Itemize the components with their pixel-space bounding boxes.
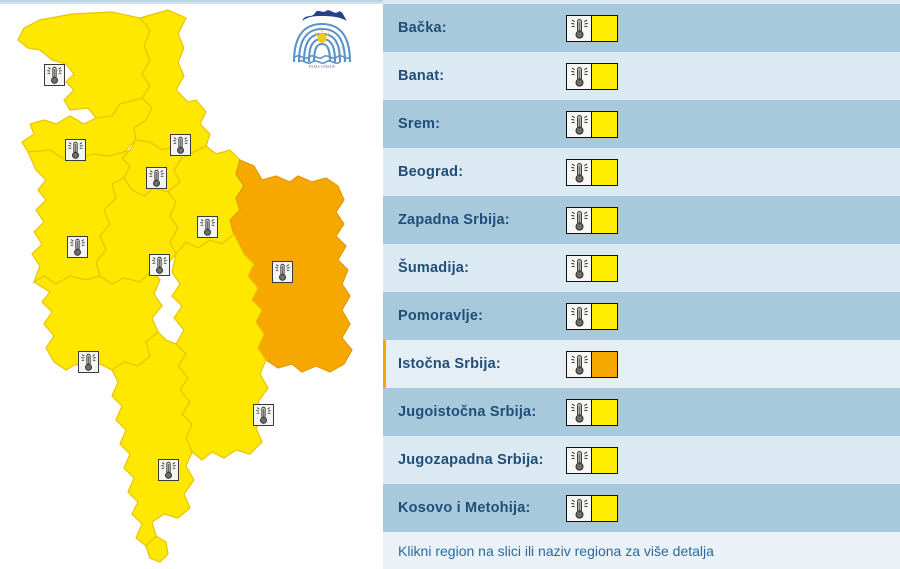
map-thermometer-icon[interactable] [170, 134, 191, 156]
thermometer-icon [566, 159, 591, 186]
region-row[interactable]: Banat: [383, 52, 900, 100]
map-thermometer-icon[interactable] [197, 216, 218, 238]
warning-level-swatch [591, 495, 618, 522]
region-row[interactable]: Srem: [383, 100, 900, 148]
footer-hint-row: Klikni region na slici ili naziv regiona… [383, 532, 900, 569]
thermometer-icon [566, 399, 591, 426]
region-name-link[interactable]: Banat: [398, 68, 558, 84]
region-name-link[interactable]: Jugozapadna Srbija: [398, 452, 558, 468]
warning-level-swatch [591, 399, 618, 426]
thermometer-icon [566, 15, 591, 42]
thermometer-icon [566, 207, 591, 234]
warning-level-swatch [591, 447, 618, 474]
warning-level-swatch [591, 63, 618, 90]
map-thermometer-icon[interactable] [253, 404, 274, 426]
warning-badge[interactable] [566, 447, 618, 474]
region-name-link[interactable]: Zapadna Srbija: [398, 212, 558, 228]
region-name-link[interactable]: Beograd: [398, 164, 558, 180]
warning-level-swatch [591, 111, 618, 138]
warning-badge[interactable] [566, 351, 618, 378]
warning-level-swatch [591, 159, 618, 186]
region-row[interactable]: Beograd: [383, 148, 900, 196]
region-name-link[interactable]: Jugoistočna Srbija: [398, 404, 558, 420]
region-name-link[interactable]: Bačka: [398, 20, 558, 36]
warning-level-swatch [591, 351, 618, 378]
region-name-link[interactable]: Šumadija: [398, 260, 558, 276]
map-thermometer-icon[interactable] [149, 254, 170, 276]
region-list-panel: Bačka:Banat:Srem:Beograd:Zapadna Srbija:… [383, 0, 900, 569]
thermometer-icon [566, 447, 591, 474]
region-row[interactable]: Pomoravlje: [383, 292, 900, 340]
map-thermometer-icon[interactable] [272, 261, 293, 283]
warning-badge[interactable] [566, 159, 618, 186]
rhmz-serbia-logo: РХМЗ СРБИЈЕ [288, 8, 356, 70]
warning-badge[interactable] [566, 111, 618, 138]
thermometer-icon [566, 111, 591, 138]
region-row[interactable]: Bačka: [383, 4, 900, 52]
thermometer-icon [566, 63, 591, 90]
region-name-link[interactable]: Srem: [398, 116, 558, 132]
region-row[interactable]: Šumadija: [383, 244, 900, 292]
region-row[interactable]: Kosovo i Metohija: [383, 484, 900, 532]
warning-map-page: РХМЗ СРБИЈЕ Bačka:Banat:Srem:Beograd:Zap… [0, 0, 900, 569]
warning-badge[interactable] [566, 399, 618, 426]
warning-badge[interactable] [566, 495, 618, 522]
logo-caption: РХМЗ СРБИЈЕ [309, 64, 336, 69]
map-thermometer-icon[interactable] [65, 139, 86, 161]
warning-level-swatch [591, 207, 618, 234]
warning-badge[interactable] [566, 207, 618, 234]
map-thermometer-icon[interactable] [67, 236, 88, 258]
thermometer-icon [566, 351, 591, 378]
map-thermometer-icon[interactable] [44, 64, 65, 86]
footer-hint-text: Klikni region na slici ili naziv regiona… [398, 543, 714, 559]
serbia-map-panel[interactable]: РХМЗ СРБИЈЕ [0, 4, 383, 569]
region-name-link[interactable]: Kosovo i Metohija: [398, 500, 558, 516]
active-row-marker [383, 340, 386, 388]
warning-level-swatch [591, 255, 618, 282]
warning-level-swatch [591, 303, 618, 330]
region-row[interactable]: Istočna Srbija: [383, 340, 900, 388]
map-thermometer-icon[interactable] [146, 167, 167, 189]
warning-badge[interactable] [566, 15, 618, 42]
warning-badge[interactable] [566, 255, 618, 282]
thermometer-icon [566, 255, 591, 282]
thermometer-icon [566, 303, 591, 330]
region-name-link[interactable]: Istočna Srbija: [398, 356, 558, 372]
warning-badge[interactable] [566, 303, 618, 330]
map-thermometer-icon[interactable] [158, 459, 179, 481]
region-row[interactable]: Zapadna Srbija: [383, 196, 900, 244]
map-thermometer-icon[interactable] [78, 351, 99, 373]
serbia-map[interactable] [0, 4, 383, 569]
warning-badge[interactable] [566, 63, 618, 90]
warning-level-swatch [591, 15, 618, 42]
region-name-link[interactable]: Pomoravlje: [398, 308, 558, 324]
thermometer-icon [566, 495, 591, 522]
region-row[interactable]: Jugozapadna Srbija: [383, 436, 900, 484]
region-row[interactable]: Jugoistočna Srbija: [383, 388, 900, 436]
